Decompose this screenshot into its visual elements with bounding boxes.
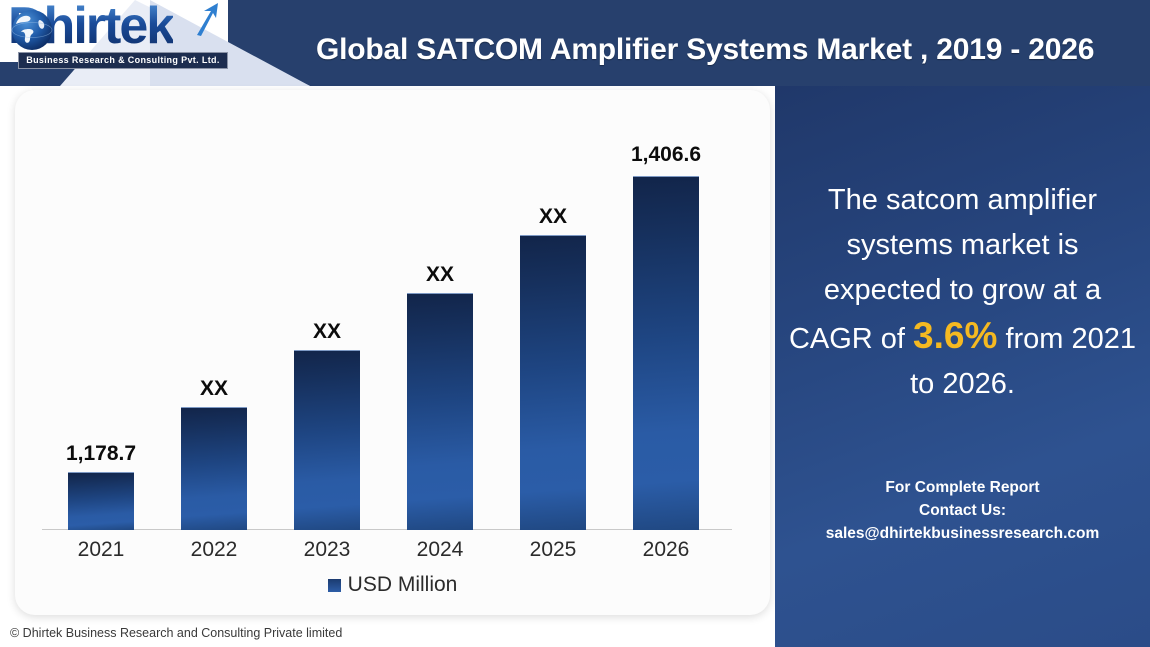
contact-email[interactable]: sales@dhirtekbusinessresearch.com [783,522,1142,545]
summary-panel: The satcom amplifier systems market is e… [775,86,1150,647]
x-tick-2026: 2026 [616,538,716,562]
cagr-value: 3.6% [913,315,997,356]
x-tick-2023: 2023 [277,538,377,562]
page-title: Global SATCOM Amplifier Systems Market ,… [316,33,1144,67]
bar-label-2021: 1,178.7 [41,442,161,466]
logo-tagline: Business Research & Consulting Pvt. Ltd. [18,52,228,69]
copyright-notice: © Dhirtek Business Research and Consulti… [10,626,342,640]
growth-arrow-icon [194,2,220,36]
bar-label-2022: XX [164,377,264,401]
bar-2025[interactable] [520,235,586,530]
contact-block: For Complete Report Contact Us: sales@dh… [783,476,1142,545]
legend-label-usd-million: USD Million [348,573,458,597]
x-axis-line [42,529,732,530]
x-tick-2025: 2025 [503,538,603,562]
bar-chart: 1,178.7 2021 XX 2022 XX 2023 XX 2024 XX … [15,90,770,615]
bar-label-2026: 1,406.6 [606,143,726,167]
bar-2026[interactable] [633,176,699,530]
bar-label-2023: XX [277,320,377,344]
x-tick-2021: 2021 [51,538,151,562]
x-tick-2022: 2022 [164,538,264,562]
infographic-page: Global SATCOM Amplifier Systems Market ,… [0,0,1150,647]
legend-swatch-usd-million [328,579,341,592]
chart-card: 1,178.7 2021 XX 2022 XX 2023 XX 2024 XX … [15,90,770,615]
bar-2023[interactable] [294,350,360,530]
bar-2022[interactable] [181,407,247,530]
market-statement: The satcom amplifier systems market is e… [787,178,1138,407]
contact-heading: For Complete Report [783,476,1142,499]
x-tick-2024: 2024 [390,538,490,562]
bar-2021[interactable] [68,472,134,530]
bar-label-2025: XX [503,205,603,229]
bar-label-2024: XX [390,263,490,287]
company-logo[interactable]: Dhirtek Business Research & Consulting P… [8,2,238,68]
contact-label: Contact Us: [783,499,1142,522]
bar-2024[interactable] [407,293,473,530]
chart-legend: USD Million [15,573,770,597]
globe-icon [10,8,54,52]
